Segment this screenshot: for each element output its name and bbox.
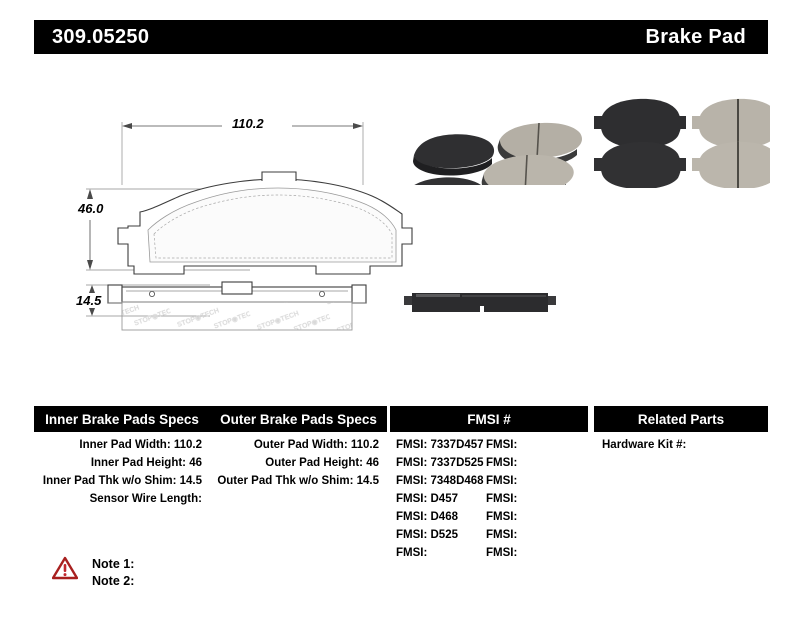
related-parts-column: Hardware Kit #: (594, 436, 768, 454)
fmsi-column: FMSI: 7337D457 FMSI: FMSI: 7337D525 FMSI… (390, 436, 588, 562)
table-row: FMSI: D525 FMSI: (390, 526, 588, 544)
column-header-related-parts: Related Parts (594, 406, 768, 432)
part-number-text: 309.05250 (52, 26, 149, 49)
fmsi-value: FMSI: 7337D457 (390, 439, 486, 452)
outer-specs-column: Outer Pad Width: 110.2 Outer Pad Height:… (210, 436, 387, 490)
column-header-outer-specs: Outer Brake Pads Specs (210, 406, 387, 432)
hardware-kit-row: Hardware Kit #: (602, 436, 768, 454)
table-row: FMSI: 7337D525 FMSI: (390, 454, 588, 472)
pad-side-view (108, 282, 366, 330)
column-header-inner-specs-text: Inner Brake Pads Specs (45, 412, 199, 427)
spec-row: Inner Pad Thk w/o Shim: 14.5 (34, 472, 210, 490)
fmsi-value: FMSI: 7348D468 (390, 475, 486, 488)
note-2: Note 2: (92, 573, 134, 590)
product-type-text: Brake Pad (645, 26, 746, 49)
inner-specs-column: Inner Pad Width: 110.2 Inner Pad Height:… (34, 436, 210, 508)
fmsi-value-alt: FMSI: (486, 439, 570, 452)
column-header-fmsi: FMSI # (390, 406, 588, 432)
height-dimension-label: 46.0 (74, 201, 107, 216)
spec-row: Outer Pad Thk w/o Shim: 14.5 (210, 472, 387, 490)
warning-icon (52, 556, 78, 580)
spec-row: Outer Pad Width: 110.2 (210, 436, 387, 454)
part-number-bar: 309.05250 (34, 20, 384, 54)
column-header-fmsi-text: FMSI # (467, 412, 511, 427)
fmsi-value-alt: FMSI: (486, 529, 570, 542)
spec-row: Inner Pad Width: 110.2 (34, 436, 210, 454)
fmsi-value-alt: FMSI: (486, 475, 570, 488)
fmsi-value: FMSI: D457 (390, 493, 486, 506)
fmsi-value-alt: FMSI: (486, 493, 570, 506)
brake-pad-photo-angled (396, 95, 582, 185)
product-type-bar: Brake Pad (384, 20, 768, 54)
fmsi-value: FMSI: (390, 547, 486, 560)
fmsi-value: FMSI: D525 (390, 529, 486, 542)
column-header-related-parts-text: Related Parts (638, 412, 724, 427)
pad-face-view (118, 172, 412, 274)
column-header-outer-specs-text: Outer Brake Pads Specs (220, 412, 377, 427)
product-spec-sheet: 309.05250 Brake Pad 110.2 46.0 14.5 STOP… (0, 0, 800, 619)
spec-row: Outer Pad Height: 46 (210, 454, 387, 472)
note-lines: Note 1: Note 2: (92, 556, 134, 590)
fmsi-value-alt: FMSI: (486, 457, 570, 470)
table-row: FMSI: 7348D468 FMSI: (390, 472, 588, 490)
fmsi-value-alt: FMSI: (486, 511, 570, 524)
note-1: Note 1: (92, 556, 134, 573)
table-row: FMSI: D457 FMSI: (390, 490, 588, 508)
spec-row: Inner Pad Height: 46 (34, 454, 210, 472)
brake-pad-photo-edge (400, 280, 560, 330)
table-row: FMSI: D468 FMSI: (390, 508, 588, 526)
notes-section: Note 1: Note 2: (52, 556, 134, 590)
fmsi-value: FMSI: 7337D525 (390, 457, 486, 470)
technical-drawing-area: 110.2 46.0 14.5 STOP◉TECH STOP◉TECH STOP… (0, 60, 800, 400)
width-dimension-label: 110.2 (228, 116, 268, 131)
spec-row: Sensor Wire Length: (34, 490, 210, 508)
width-dimension-line (122, 122, 363, 185)
brake-pad-photo-topdown (588, 92, 770, 188)
column-header-inner-specs: Inner Brake Pads Specs (34, 406, 210, 432)
fmsi-value-alt: FMSI: (486, 547, 570, 560)
thickness-dimension-label: 14.5 (72, 293, 105, 308)
table-row: FMSI: 7337D457 FMSI: (390, 436, 588, 454)
table-row: FMSI: FMSI: (390, 544, 588, 562)
fmsi-value: FMSI: D468 (390, 511, 486, 524)
